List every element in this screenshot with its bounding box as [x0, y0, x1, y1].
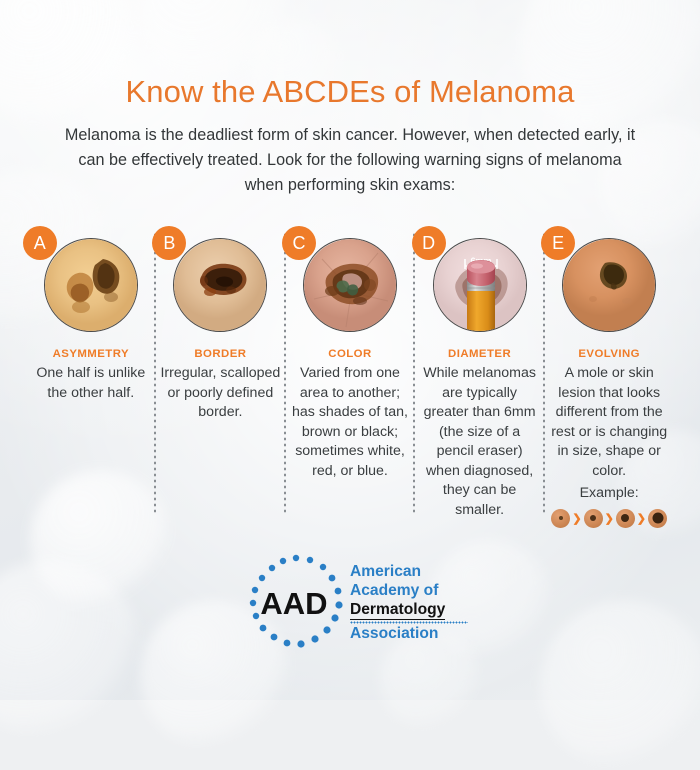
- badge-d: D: [412, 226, 446, 260]
- badge-e: E: [541, 226, 575, 260]
- heading-border: BORDER: [194, 348, 246, 360]
- description-border: Irregular, scalloped or poorly defined b…: [159, 364, 281, 423]
- evolving-mole-photo: [562, 238, 656, 332]
- badge-b: B: [152, 226, 186, 260]
- pencil-eraser-scale-svg: 6mm: [434, 239, 527, 332]
- heading-diameter: DIAMETER: [448, 348, 511, 360]
- asymmetric-mole-photo: [44, 238, 138, 332]
- abcde-columns: A ASYMMETRY One half is unlike the other…: [26, 228, 674, 528]
- logo-line-3: Dermatology: [350, 600, 445, 620]
- abcde-column-a: A ASYMMETRY One half is unlike the other…: [26, 228, 156, 528]
- example-label: Example:: [548, 484, 670, 504]
- aad-logo-text: American Academy of Dermatology Associat…: [350, 562, 468, 643]
- abcde-column-b: B BORDER Irregular, scalloped or poorly …: [156, 228, 286, 528]
- multicolored-mole-svg: [304, 239, 397, 332]
- evolving-stage-4: [648, 509, 667, 528]
- pencil-eraser-scale-photo: 6mm: [433, 238, 527, 332]
- evolving-chevron-icon: ❯: [605, 512, 614, 525]
- heading-asymmetry: ASYMMETRY: [53, 348, 129, 360]
- intro-paragraph: Melanoma is the deadliest form of skin c…: [58, 123, 642, 198]
- description-diameter: While melanomas are typically greater th…: [419, 364, 541, 520]
- lesion-photo-c-wrap: C: [303, 238, 397, 332]
- evolving-chevron-icon: ❯: [572, 512, 581, 525]
- evolving-stage-1: [551, 509, 570, 528]
- lesion-photo-d-wrap: 6mm: [433, 238, 527, 332]
- evolving-chevron-icon: ❯: [637, 512, 646, 525]
- logo-line-4: Association: [350, 625, 438, 642]
- multicolored-mole-photo: [303, 238, 397, 332]
- abcde-column-e: E EVOLVING A mole or skin lesion that lo…: [544, 228, 674, 528]
- evolving-stage-2: [584, 509, 603, 528]
- description-color: Varied from one area to another; has sha…: [289, 364, 411, 481]
- page-title: Know the ABCDEs of Melanoma: [0, 74, 700, 110]
- abcde-column-c: C COLOR Varied from one area to another;…: [285, 228, 415, 528]
- irregular-border-mole-svg: [174, 239, 267, 332]
- description-asymmetry: One half is unlike the other half.: [30, 364, 152, 403]
- logo-dotted-rule: [350, 621, 468, 624]
- aad-logo: AAD American Academy of Dermatology Asso…: [246, 552, 464, 652]
- abcde-column-d: 6mm: [415, 228, 545, 528]
- lesion-photo-a-wrap: A: [44, 238, 138, 332]
- evolving-stage-3: [616, 509, 635, 528]
- lesion-photo-b-wrap: B: [173, 238, 267, 332]
- lesion-photo-e-wrap: E: [562, 238, 656, 332]
- badge-a: A: [23, 226, 57, 260]
- heading-color: COLOR: [328, 348, 371, 360]
- aad-mark-text: AAD: [260, 586, 327, 621]
- heading-evolving: EVOLVING: [578, 348, 640, 360]
- aad-logo-mark: AAD: [246, 552, 346, 652]
- evolving-example-strip: ❯ ❯ ❯: [551, 509, 667, 528]
- logo-line-2: Academy of: [350, 582, 438, 599]
- asymmetric-mole-svg: [45, 239, 138, 332]
- description-evolving: A mole or skin lesion that looks differe…: [548, 364, 670, 481]
- irregular-border-mole-photo: [173, 238, 267, 332]
- logo-line-1: American: [350, 563, 421, 580]
- badge-c: C: [282, 226, 316, 260]
- evolving-mole-svg: [563, 239, 656, 332]
